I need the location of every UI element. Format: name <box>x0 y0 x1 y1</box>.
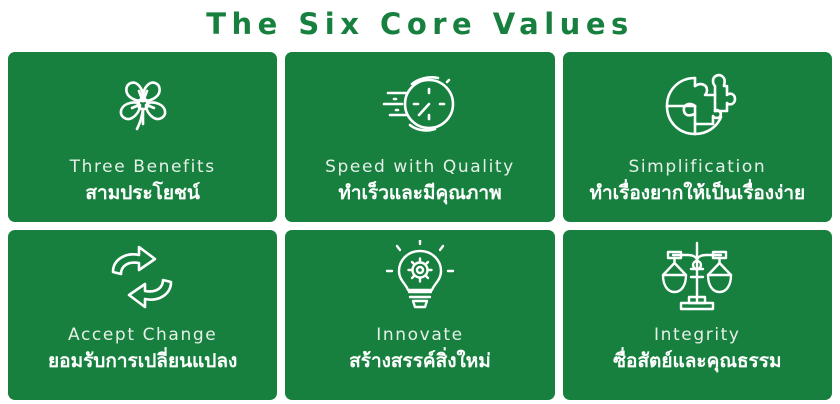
value-label-en: Innovate <box>376 324 463 347</box>
value-card-speed-with-quality[interactable]: Speed with Quality ทําเร็วและมีคุณภาพ <box>285 52 554 222</box>
lightbulb-gear-icon <box>285 230 554 324</box>
value-label-en: Three Benefits <box>70 156 216 179</box>
balance-scales-icon <box>563 230 832 324</box>
value-card-simplification[interactable]: Simplification ทําเรื่องยากให้เป็นเรื่อง… <box>563 52 832 222</box>
speed-clock-icon <box>285 52 554 156</box>
value-label-en: Speed with Quality <box>325 156 515 179</box>
clover-icon <box>8 52 277 156</box>
value-label-en: Integrity <box>654 324 741 347</box>
page-title: The Six Core Values <box>0 4 840 44</box>
value-card-integrity[interactable]: Integrity ซื่อสัตย์และคุณธรรม <box>563 230 832 400</box>
values-card-grid: Three Benefits สามประโยชน์ <box>8 52 832 400</box>
value-card-innovate[interactable]: Innovate สร้างสรรค์สิ่งใหม่ <box>285 230 554 400</box>
value-label-th: ทําเร็วและมีคุณภาพ <box>338 180 501 206</box>
puzzle-circle-icon <box>563 52 832 156</box>
value-card-three-benefits[interactable]: Three Benefits สามประโยชน์ <box>8 52 277 222</box>
value-label-th: ยอมรับการเปลี่ยนแปลง <box>48 348 237 374</box>
value-label-th: สร้างสรรค์สิ่งใหม่ <box>349 348 491 374</box>
value-label-en: Accept Change <box>68 324 217 347</box>
recycle-arrows-icon <box>8 230 277 324</box>
six-core-values-infographic: The Six Core Values <box>0 0 840 404</box>
value-label-th: ทําเรื่องยากให้เป็นเรื่องง่าย <box>589 180 805 206</box>
value-label-th: สามประโยชน์ <box>85 180 199 206</box>
value-card-accept-change[interactable]: Accept Change ยอมรับการเปลี่ยนแปลง <box>8 230 277 400</box>
value-label-th: ซื่อสัตย์และคุณธรรม <box>613 348 781 374</box>
value-label-en: Simplification <box>628 156 766 179</box>
